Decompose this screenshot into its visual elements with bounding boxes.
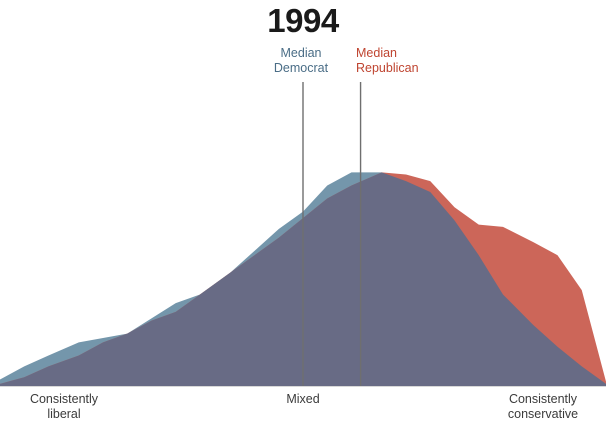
polarization-chart: 1994 Median Democrat Median Republican C… — [0, 0, 606, 434]
axis-label-mixed: Mixed — [253, 392, 353, 407]
axis-label-consistently-liberal: Consistently liberal — [4, 392, 124, 422]
axis-label-consistently-conservative: Consistently conservative — [484, 392, 602, 422]
distribution-plot — [0, 0, 606, 434]
